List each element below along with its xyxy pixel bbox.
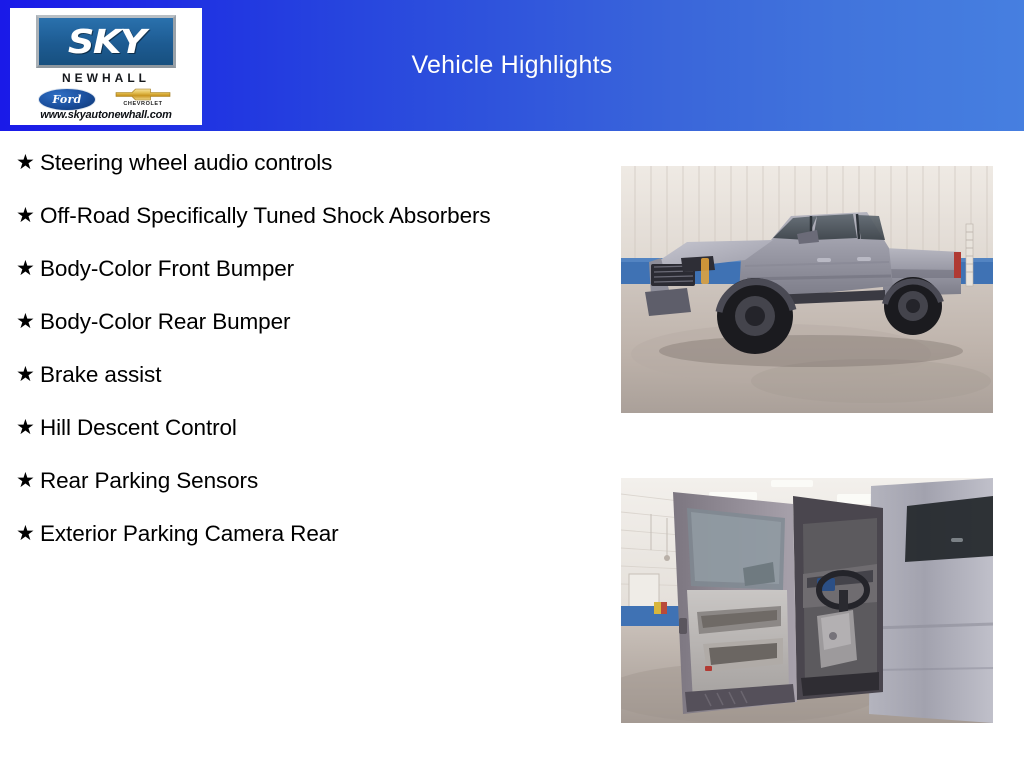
vehicle-photo-interior-image [621, 478, 993, 723]
feature-label: Brake assist [40, 360, 555, 390]
sky-brand-plate: SKY [36, 15, 176, 68]
feature-label: Hill Descent Control [40, 413, 555, 443]
vehicle-photo-exterior-image [621, 166, 993, 413]
star-icon: ★ [10, 148, 40, 178]
list-item: ★ Hill Descent Control [10, 413, 555, 443]
vehicle-photo-interior[interactable] [621, 478, 993, 723]
vehicle-photo-exterior[interactable] [621, 166, 993, 413]
vehicle-highlights-list: ★ Steering wheel audio controls ★ Off-Ro… [10, 148, 555, 572]
feature-label: Body-Color Rear Bumper [40, 307, 555, 337]
chevrolet-bowtie-icon [115, 88, 171, 101]
franchise-logo-row: Ford CHEVROL [10, 87, 202, 111]
feature-label: Off-Road Specifically Tuned Shock Absorb… [40, 201, 555, 231]
star-icon: ★ [10, 360, 40, 390]
list-item: ★ Body-Color Front Bumper [10, 254, 555, 284]
list-item: ★ Body-Color Rear Bumper [10, 307, 555, 337]
star-icon: ★ [10, 413, 40, 443]
star-icon: ★ [10, 519, 40, 549]
list-item: ★ Off-Road Specifically Tuned Shock Abso… [10, 201, 555, 231]
dealer-website-url[interactable]: www.skyautonewhall.com [10, 109, 202, 121]
list-item: ★ Rear Parking Sensors [10, 466, 555, 496]
star-icon: ★ [10, 254, 40, 284]
star-icon: ★ [10, 201, 40, 231]
dealer-logo[interactable]: SKY NEWHALL Ford [10, 8, 202, 125]
dealer-location-label: NEWHALL [10, 71, 202, 85]
feature-label: Steering wheel audio controls [40, 148, 555, 178]
dealer-logo-inner: SKY NEWHALL Ford [10, 8, 202, 125]
list-item: ★ Brake assist [10, 360, 555, 390]
page-header: Vehicle Highlights SKY NEWHALL Ford [0, 0, 1024, 131]
star-icon: ★ [10, 466, 40, 496]
list-item: ★ Exterior Parking Camera Rear [10, 519, 555, 549]
ford-logo-text: Ford [52, 94, 81, 105]
feature-label: Exterior Parking Camera Rear [40, 519, 555, 549]
star-icon: ★ [10, 307, 40, 337]
chevrolet-logo-icon: CHEVROLET [112, 87, 174, 111]
sky-brand-text: SKY [68, 25, 145, 58]
feature-label: Body-Color Front Bumper [40, 254, 555, 284]
list-item: ★ Steering wheel audio controls [10, 148, 555, 178]
feature-label: Rear Parking Sensors [40, 466, 555, 496]
ford-logo-icon: Ford [38, 88, 96, 111]
chevrolet-logo-text: CHEVROLET [112, 101, 174, 107]
